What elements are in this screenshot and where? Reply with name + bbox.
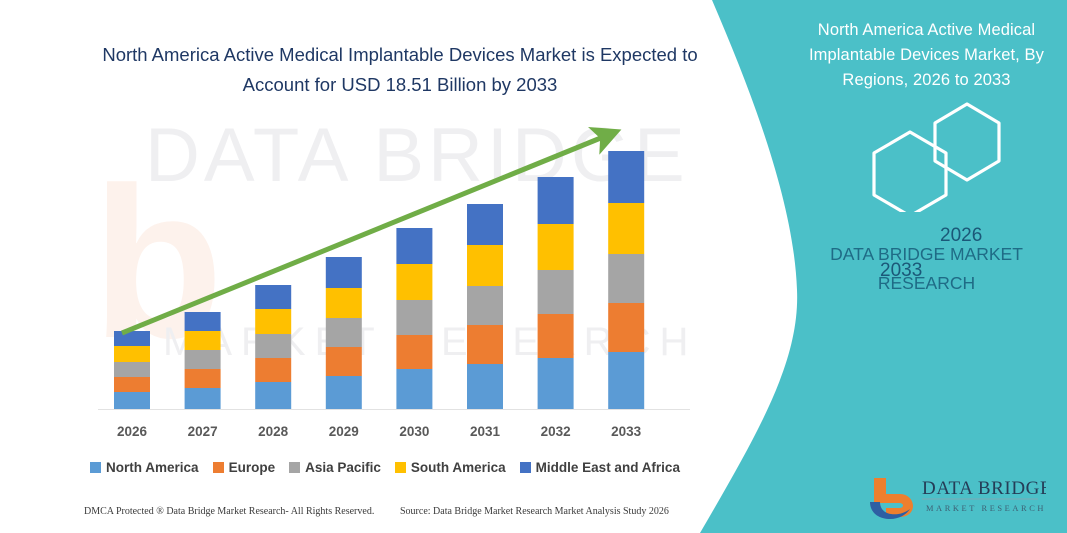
bar-segment [326,347,362,376]
bar-segment [114,362,150,377]
bar-segment [185,350,221,369]
logo-secondary-text: MARKET RESEARCH [926,504,1046,513]
footer-copyright: DMCA Protected ® Data Bridge Market Rese… [84,506,374,517]
legend-item[interactable]: Middle East and Africa [520,460,680,475]
legend-swatch-icon [289,462,300,473]
legend-item[interactable]: Europe [213,460,276,475]
bar-segment [396,264,432,300]
legend-label: Middle East and Africa [536,460,680,475]
panel-brand-line1: DATA BRIDGE MARKET [786,240,1067,269]
legend-item[interactable]: North America [90,460,199,475]
bar-segment [396,300,432,335]
bar-segment [326,257,362,288]
bar-segment [185,369,221,388]
bar-segment [396,335,432,369]
footer-source: Source: Data Bridge Market Research Mark… [400,506,669,517]
x-axis-tick: 2033 [591,424,661,439]
legend-item[interactable]: South America [395,460,506,475]
bar-segment [538,224,574,270]
bar-segment [255,309,291,334]
bar-segment [114,377,150,392]
bar-segment [467,286,503,325]
legend-swatch-icon [395,462,406,473]
slide-canvas: b DATA BRIDGE MARKET RESEARCH North Amer… [0,0,1067,533]
bar-segment [255,285,291,309]
bars-group [114,151,644,409]
x-axis-tick: 2027 [168,424,238,439]
bar-segment [326,318,362,347]
panel-brand-text: DATA BRIDGE MARKET RESEARCH [786,240,1067,298]
bar-segment [538,177,574,224]
trend-arrow-icon [122,135,608,333]
x-axis-labels: 20262027202820292030203120322033 [0,424,760,446]
bar-segment [608,303,644,352]
legend-label: Asia Pacific [305,460,381,475]
legend-swatch-icon [213,462,224,473]
bar-segment [467,245,503,286]
legend-label: South America [411,460,506,475]
data-bridge-logo: DATA BRIDGE MARKET RESEARCH [866,472,1046,520]
bar-segment [467,325,503,364]
x-axis-tick: 2029 [309,424,379,439]
bar-chart [0,0,760,533]
hexagon-group: 2026 2033 [786,102,1067,212]
x-axis-tick: 2032 [521,424,591,439]
chart-legend: North AmericaEuropeAsia PacificSouth Ame… [60,456,710,478]
bar-segment [538,270,574,314]
x-axis-tick: 2031 [450,424,520,439]
legend-label: Europe [229,460,276,475]
logo-primary-text: DATA BRIDGE [922,478,1046,499]
x-axis-tick: 2026 [97,424,167,439]
legend-label: North America [106,460,199,475]
bar-segment [114,346,150,362]
bar-segment [396,228,432,264]
legend-item[interactable]: Asia Pacific [289,460,381,475]
bar-segment [538,314,574,358]
bar-segment [326,288,362,318]
bar-segment [538,358,574,409]
panel-title: North America Active Medical Implantable… [786,18,1067,93]
x-axis-tick: 2028 [238,424,308,439]
bar-segment [255,334,291,358]
bar-segment [608,352,644,409]
bar-segment [114,331,150,346]
bar-segment [255,358,291,382]
bar-segment [396,369,432,409]
bar-segment [608,254,644,303]
right-panel: North America Active Medical Implantable… [786,0,1067,533]
bar-segment [255,382,291,409]
bar-segment [185,388,221,409]
panel-brand-line2: RESEARCH [786,269,1067,298]
footer: DMCA Protected ® Data Bridge Market Rese… [0,506,760,528]
logo-mark-icon [870,478,913,519]
bar-segment [467,204,503,245]
x-axis-tick: 2030 [379,424,449,439]
bar-segment [608,151,644,203]
bar-segment [114,392,150,409]
bar-segment [185,312,221,331]
bar-segment [326,376,362,409]
legend-swatch-icon [520,462,531,473]
bar-segment [185,331,221,350]
bar-segment [608,203,644,254]
bar-segment [467,364,503,409]
legend-swatch-icon [90,462,101,473]
